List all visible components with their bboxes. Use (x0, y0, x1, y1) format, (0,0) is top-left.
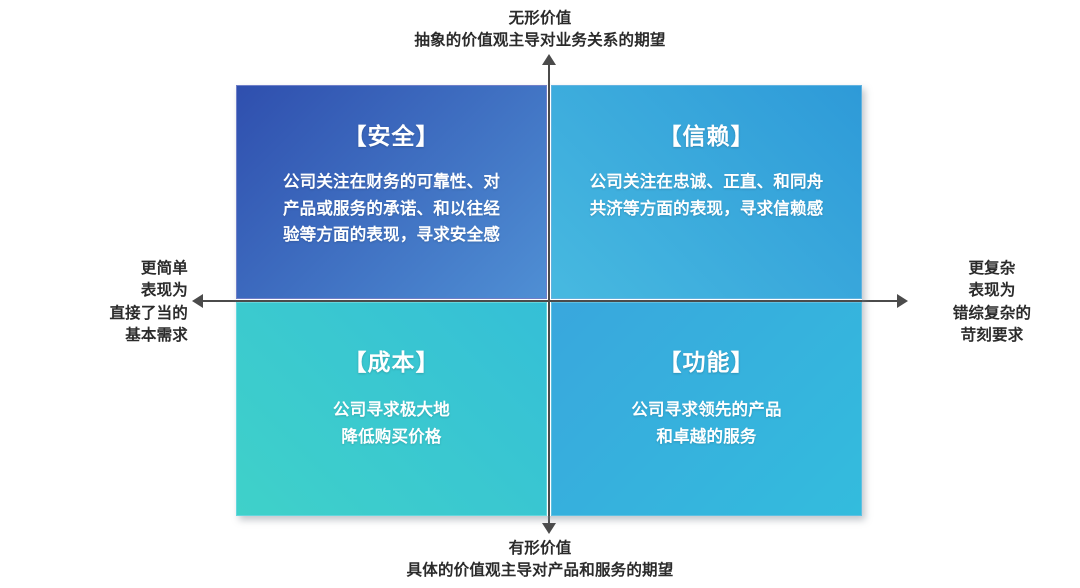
quadrant-trust-body: 公司关注在忠诚、正直、和同舟 共济等方面的表现，寻求信赖感 (552, 169, 861, 222)
right-axis-line-2: 表现为 (912, 280, 1072, 302)
right-axis-line-3: 错综复杂的 (912, 303, 1072, 325)
quadrant-security-body-line-3: 验等方面的表现，寻求安全感 (249, 222, 534, 249)
quadrant-security-body-line-1: 公司关注在财务的可靠性、对 (249, 169, 534, 196)
quadrant-trust-body-line-2: 共济等方面的表现，寻求信赖感 (564, 196, 849, 223)
quadrant-cost-body-line-1: 公司寻求极大地 (257, 397, 526, 424)
top-axis-label: 无形价值 抽象的价值观主导对业务关系的期望 (0, 8, 1080, 53)
quadrant-cost[interactable]: 【成本】 公司寻求极大地 降低购买价格 (236, 302, 547, 516)
quadrant-security[interactable]: 【安全】 公司关注在财务的可靠性、对 产品或服务的承诺、和以往经 验等方面的表现… (236, 85, 547, 299)
quadrant-matrix: 【安全】 公司关注在财务的可靠性、对 产品或服务的承诺、和以往经 验等方面的表现… (236, 85, 862, 516)
quadrant-trust-body-line-1: 公司关注在忠诚、正直、和同舟 (564, 169, 849, 196)
arrow-right-icon (897, 294, 908, 308)
quadrant-function-body-line-2: 和卓越的服务 (572, 424, 841, 451)
quadrant-security-body-line-2: 产品或服务的承诺、和以往经 (249, 196, 534, 223)
arrow-up-icon (542, 54, 556, 65)
left-axis-line-1: 更简单 (18, 258, 188, 280)
left-axis-line-3: 直接了当的 (18, 303, 188, 325)
arrow-down-icon (542, 523, 556, 534)
quadrant-cost-body: 公司寻求极大地 降低购买价格 (237, 397, 546, 450)
top-axis-title: 无形价值 (0, 8, 1080, 30)
diagram-canvas: 无形价值 抽象的价值观主导对业务关系的期望 有形价值 具体的价值观主导对产品和服… (0, 0, 1080, 588)
left-axis-line-2: 表现为 (18, 280, 188, 302)
arrow-left-icon (192, 294, 203, 308)
quadrant-cost-body-line-2: 降低购买价格 (257, 424, 526, 451)
bottom-axis-subtitle: 具体的价值观主导对产品和服务的期望 (0, 560, 1080, 582)
bottom-axis-label: 有形价值 具体的价值观主导对产品和服务的期望 (0, 538, 1080, 583)
quadrant-trust-title: 【信赖】 (552, 117, 861, 151)
top-axis-subtitle: 抽象的价值观主导对业务关系的期望 (0, 30, 1080, 52)
left-axis-line-4: 基本需求 (18, 325, 188, 347)
left-axis-label: 更简单 表现为 直接了当的 基本需求 (18, 258, 188, 348)
quadrant-function-body: 公司寻求领先的产品 和卓越的服务 (552, 397, 861, 450)
quadrant-function[interactable]: 【功能】 公司寻求领先的产品 和卓越的服务 (551, 302, 862, 516)
quadrant-security-body: 公司关注在财务的可靠性、对 产品或服务的承诺、和以往经 验等方面的表现，寻求安全… (237, 169, 546, 249)
quadrant-security-title: 【安全】 (237, 117, 546, 151)
quadrant-function-body-line-1: 公司寻求领先的产品 (572, 397, 841, 424)
quadrant-trust[interactable]: 【信赖】 公司关注在忠诚、正直、和同舟 共济等方面的表现，寻求信赖感 (551, 85, 862, 299)
quadrant-function-title: 【功能】 (552, 343, 861, 377)
quadrant-cost-title: 【成本】 (237, 343, 546, 377)
right-axis-label: 更复杂 表现为 错综复杂的 苛刻要求 (912, 258, 1072, 348)
right-axis-line-4: 苛刻要求 (912, 325, 1072, 347)
bottom-axis-title: 有形价值 (0, 538, 1080, 560)
right-axis-line-1: 更复杂 (912, 258, 1072, 280)
